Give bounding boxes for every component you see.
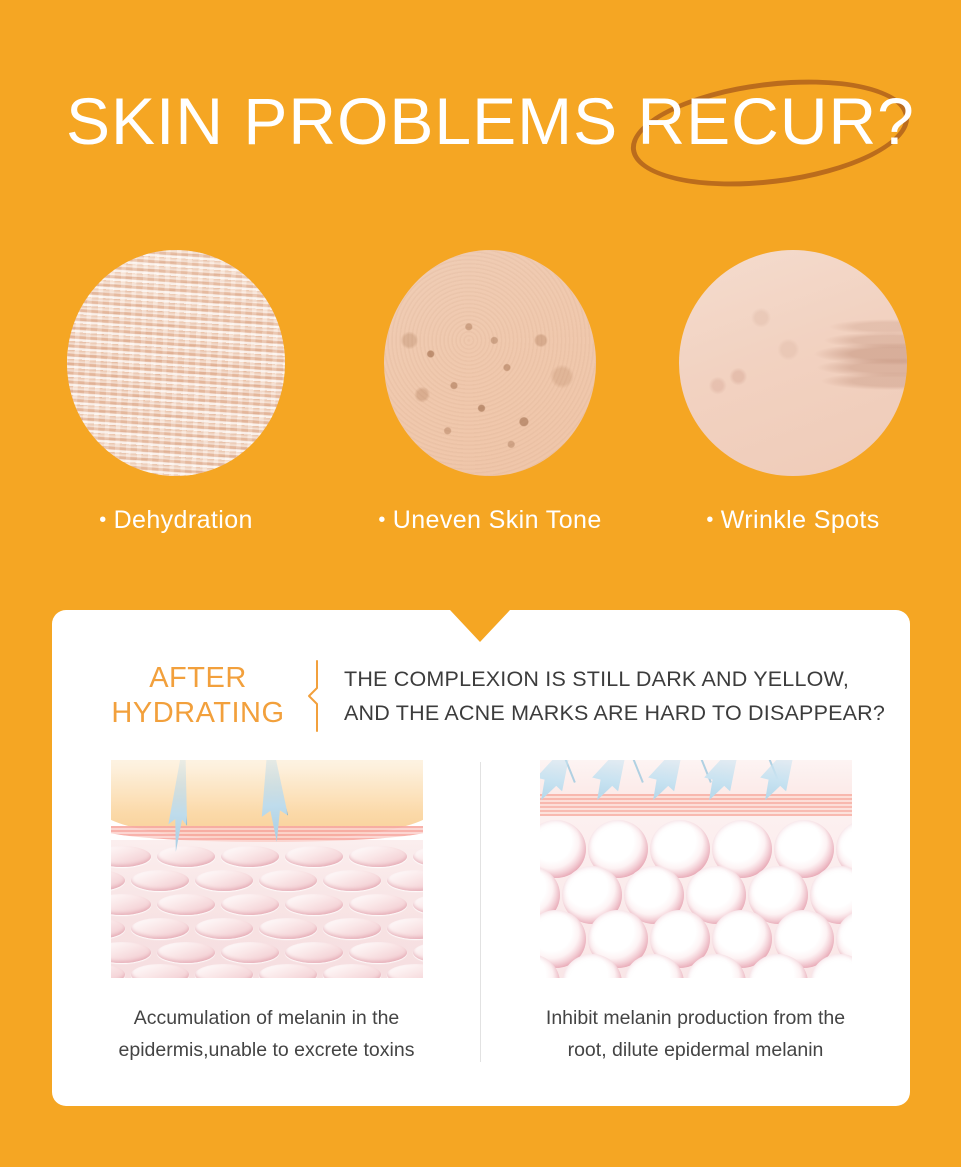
wrinkled-skin-image [679,250,907,476]
card-description: THE COMPLEXION IS STILL DARK AND YELLOW,… [344,662,885,730]
panel-after: Inhibit melanin production from the root… [481,760,910,1066]
panel-caption-before: Accumulation of melanin in the epidermis… [52,1002,481,1066]
problem-label-uneven-skin-tone: Uneven Skin Tone [350,506,630,535]
problem-item-wrinkle-spots: Wrinkle Spots [653,250,933,535]
problem-item-uneven-skin-tone: Uneven Skin Tone [350,250,630,535]
skin-diagram-flat-cells [111,760,423,978]
dry-skin-image [67,250,285,476]
page-title: SKIN PROBLEMS RECUR? [66,78,915,164]
skin-diagram-plump-cells [540,760,852,978]
brace-divider-icon [304,660,330,732]
spotted-skin-image [384,250,596,476]
skin-problems-gallery: Dehydration Uneven Skin Tone Wrinkle Spo… [0,250,961,560]
card-header: AFTER HYDRATING THE COMPLEXION IS STILL … [100,660,885,732]
comparison-panels: Accumulation of melanin in the epidermis… [52,760,910,1090]
stratum-corneum-stripes [540,794,852,816]
problem-label-wrinkle-spots: Wrinkle Spots [653,506,933,535]
card-notch-triangle-icon [450,610,510,642]
problem-item-dehydration: Dehydration [36,250,316,535]
problem-label-dehydration: Dehydration [36,506,316,535]
panel-caption-after: Inhibit melanin production from the root… [481,1002,910,1066]
info-card: AFTER HYDRATING THE COMPLEXION IS STILL … [52,610,910,1106]
headline-section: SKIN PROBLEMS RECUR? [0,78,961,188]
after-hydrating-label: AFTER HYDRATING [100,661,296,731]
panel-before: Accumulation of melanin in the epidermis… [52,760,481,1066]
